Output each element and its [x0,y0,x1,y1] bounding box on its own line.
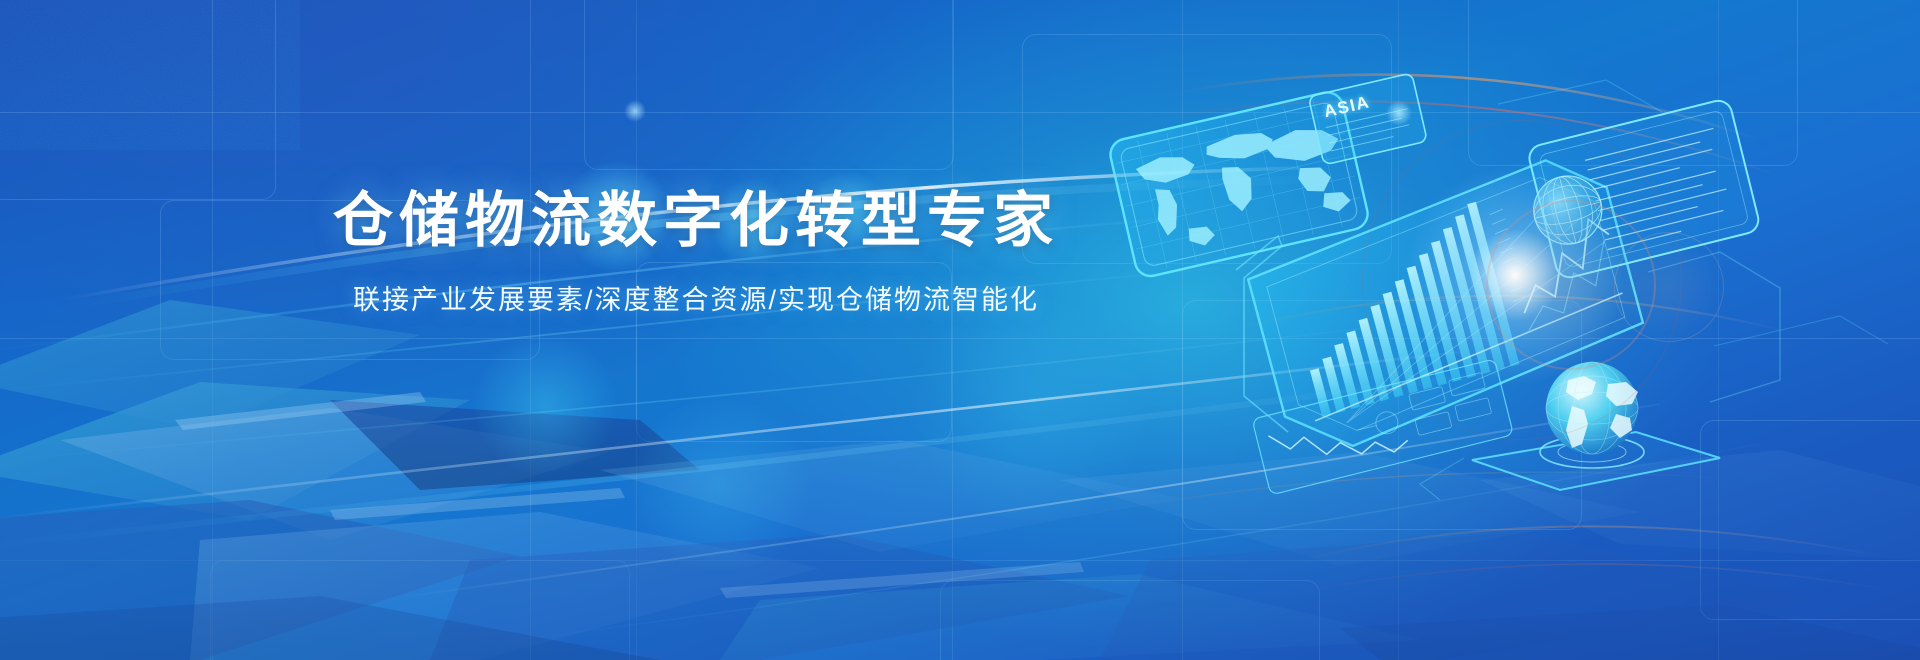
page-title: 仓储物流数字化转型专家 [316,186,1076,257]
page-subtitle: 联接产业发展要素/深度整合资源/实现仓储物流智能化 [316,283,1076,318]
asia-label-panel: ASIA [1308,73,1427,165]
hero-copy: 仓储物流数字化转型专家 联接产业发展要素/深度整合资源/实现仓储物流智能化 [316,186,1076,318]
hero-banner: ASIA [0,0,1920,660]
hud-graphic-cluster: ASIA [1020,40,1920,500]
